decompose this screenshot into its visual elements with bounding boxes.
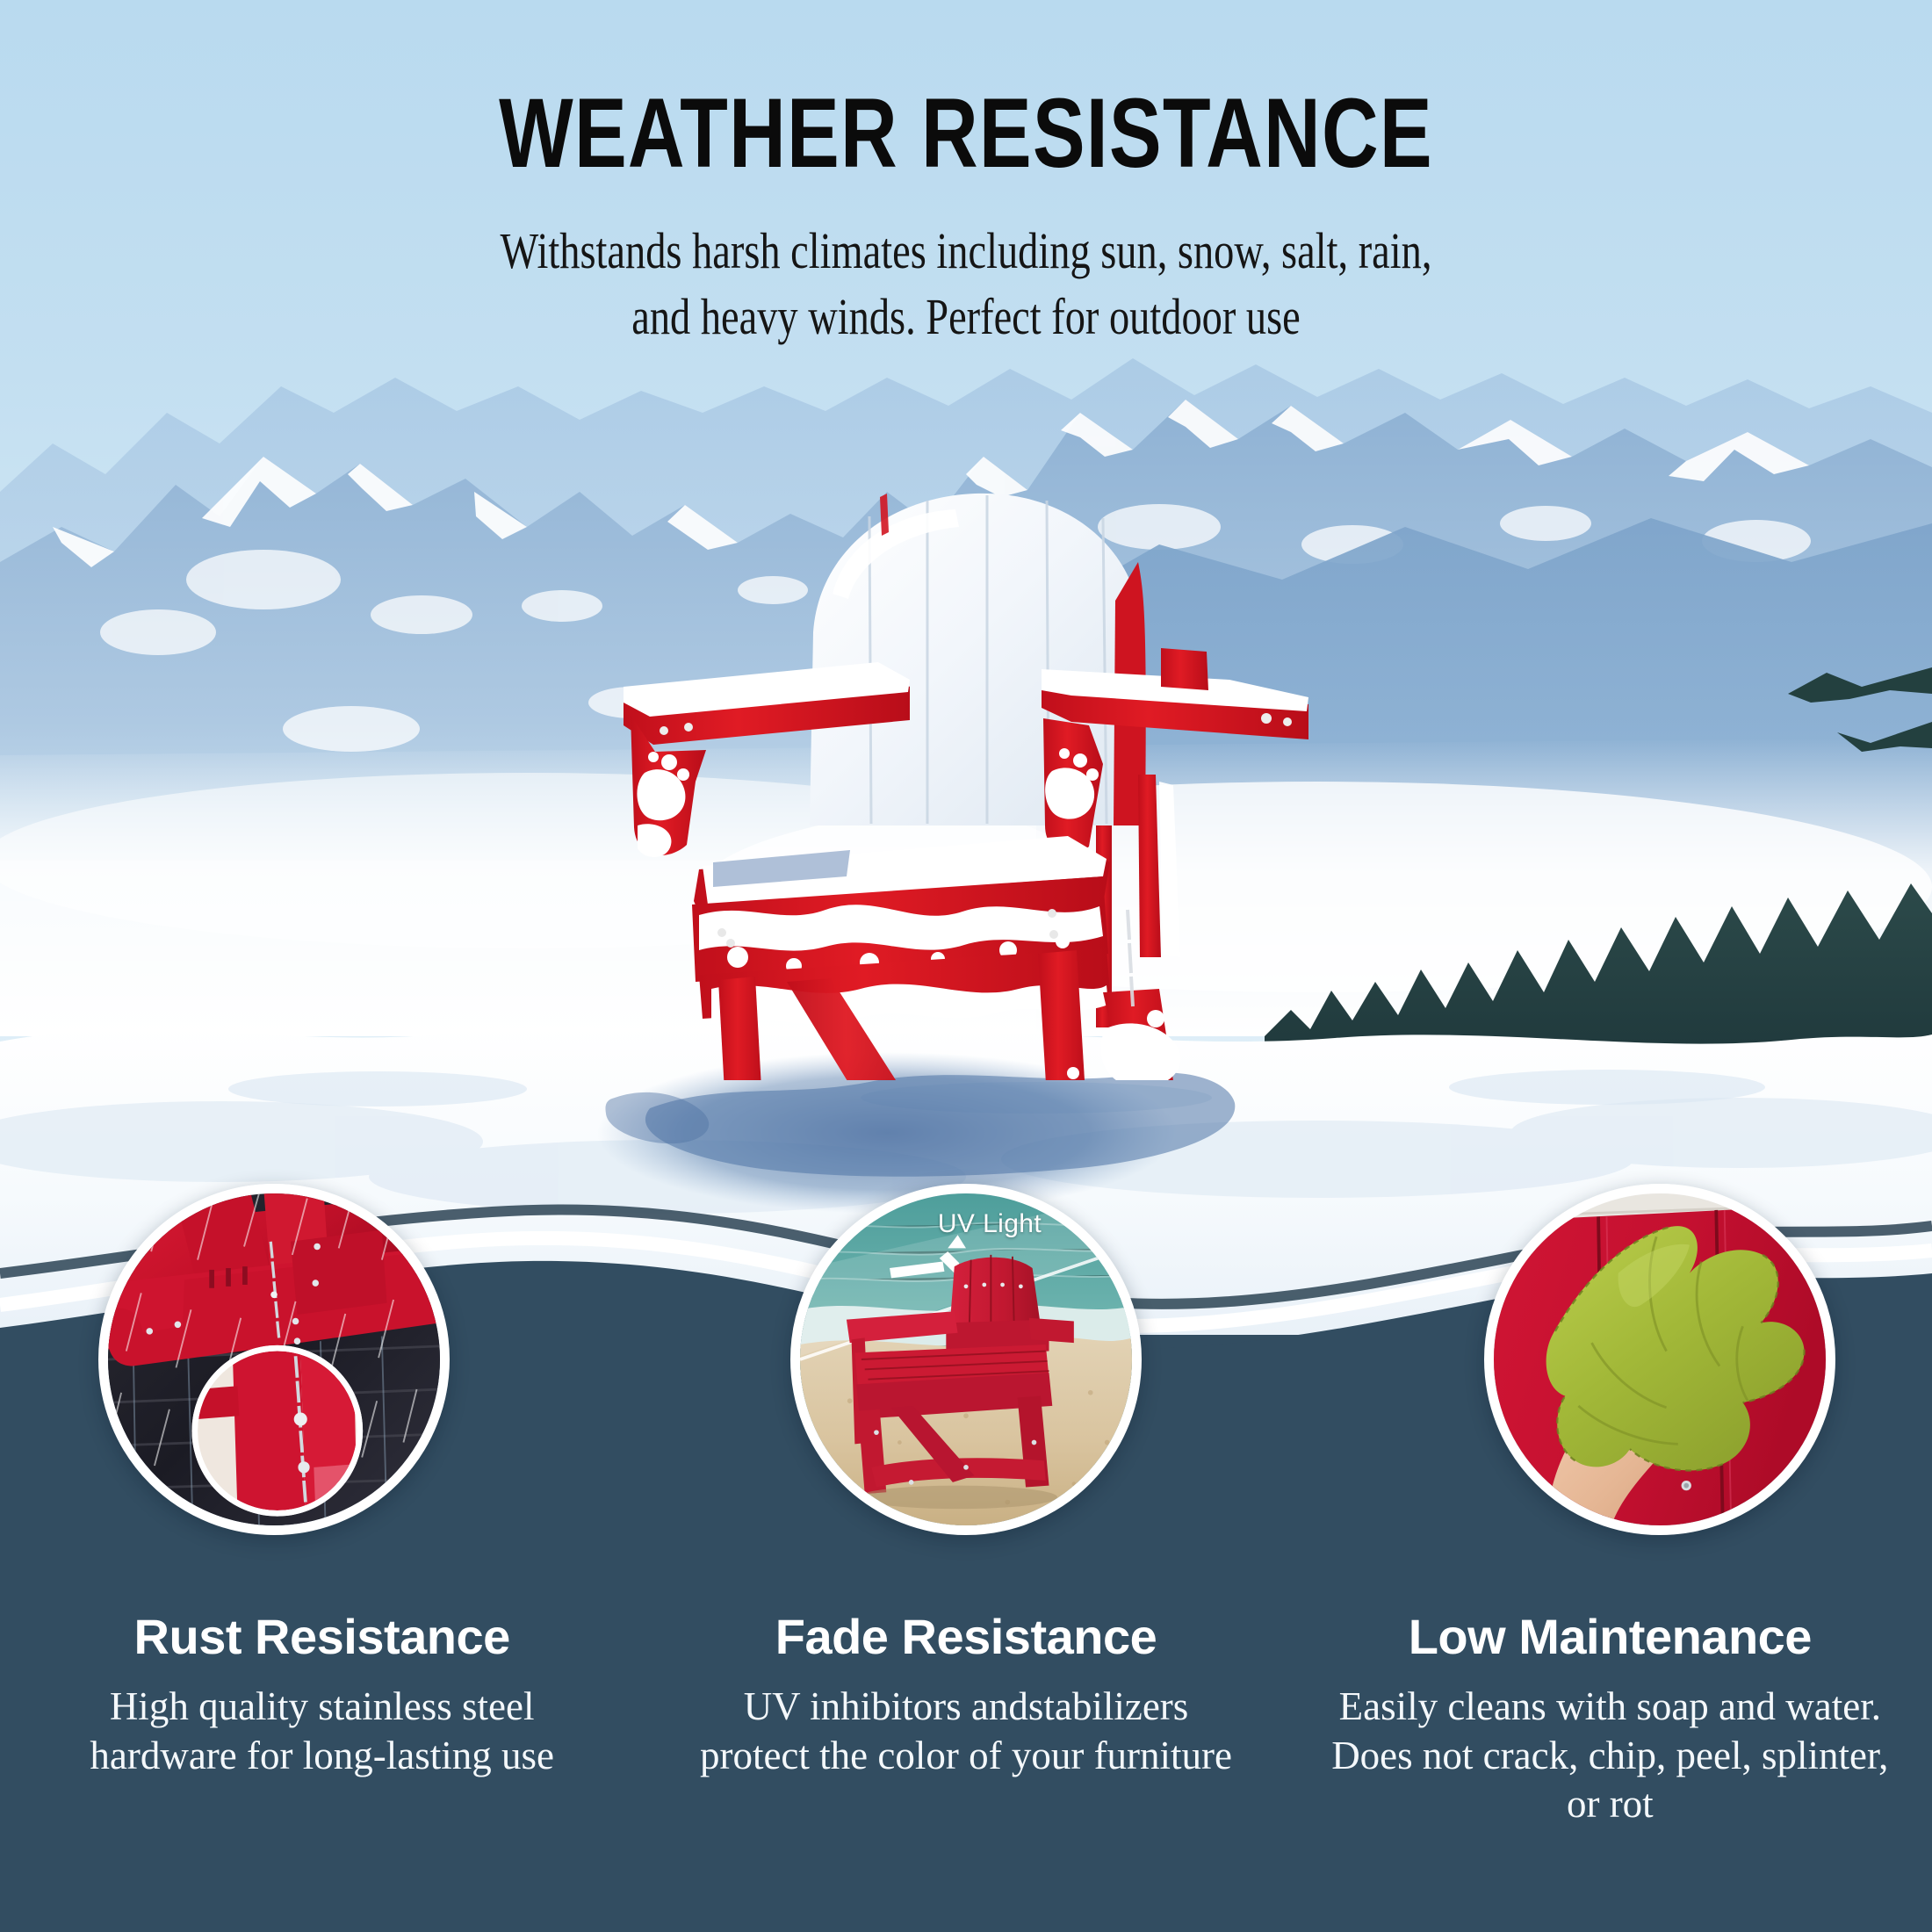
feature-title: Low Maintenance (1318, 1611, 1902, 1663)
page-title: WEATHER RESISTANCE (193, 84, 1739, 183)
thumb-rust-resistance[interactable] (98, 1184, 450, 1535)
feature-fade-resistance: Fade Resistance UV inhibitors andstabili… (644, 1611, 1287, 1829)
uv-light-label: UV Light (884, 1209, 1095, 1239)
feature-rust-resistance: Rust Resistance High quality stainless s… (0, 1611, 644, 1829)
feature-low-maintenance: Low Maintenance Easily cleans with soap … (1288, 1611, 1932, 1829)
subtitle-line-2: and heavy winds. Perfect for outdoor use (193, 284, 1739, 350)
feature-title: Rust Resistance (30, 1611, 614, 1663)
thumb-low-maintenance[interactable] (1484, 1184, 1835, 1535)
page-subtitle: Withstands harsh climates including sun,… (193, 218, 1739, 350)
feature-list: Rust Resistance High quality stainless s… (0, 1611, 1932, 1829)
thumb-fade-resistance[interactable]: UV Light (790, 1184, 1142, 1535)
maintenance-thumb-image (1494, 1193, 1826, 1525)
feature-body: Easily cleans with soap and water. Does … (1318, 1683, 1902, 1829)
feature-title: Fade Resistance (674, 1611, 1258, 1663)
feature-body: UV inhibitors andstabilizers protect the… (674, 1683, 1258, 1781)
fade-thumb-image (800, 1193, 1132, 1525)
feature-body: High quality stainless steel hardware fo… (30, 1683, 614, 1781)
header-block: WEATHER RESISTANCE Withstands harsh clim… (0, 0, 1932, 350)
subtitle-line-1: Withstands harsh climates including sun,… (193, 218, 1739, 284)
infographic-canvas: UV Light (0, 0, 1932, 1932)
rust-thumb-image (108, 1193, 440, 1525)
